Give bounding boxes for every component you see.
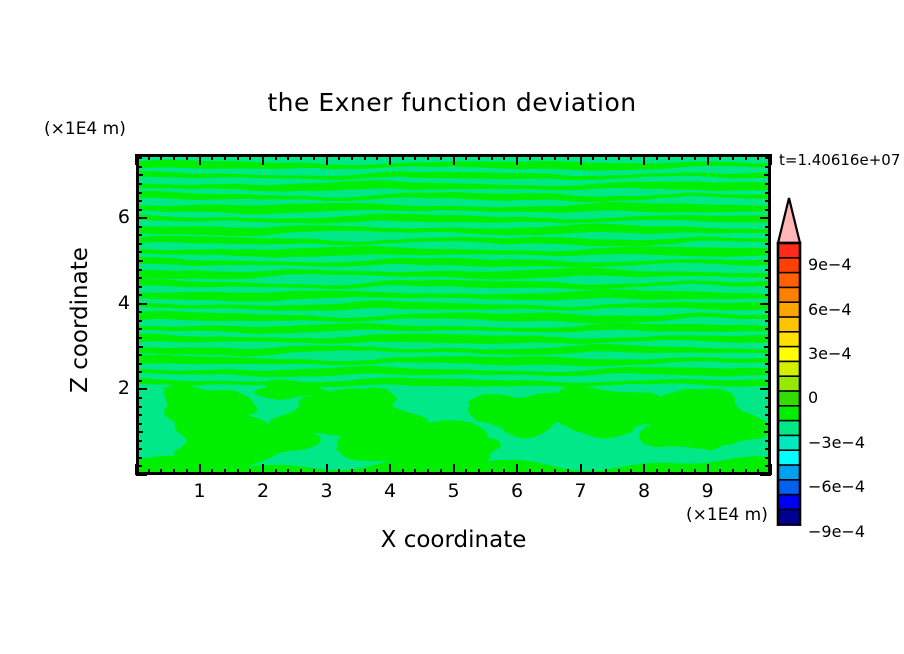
y-major-tick [136,217,147,219]
y-minor-tick [136,320,142,322]
x-minor-tick [541,469,543,475]
x-minor-tick-top [478,154,480,160]
x-minor-tick-top [694,154,696,160]
x-minor-tick-top [668,154,670,160]
y-minor-tick-right [765,192,771,194]
y-minor-tick [136,397,142,399]
x-major-tick-top [516,154,518,165]
y-minor-tick-right [765,465,771,467]
x-minor-tick-top [287,154,289,160]
x-minor-tick-top [160,154,162,160]
y-major-tick [136,388,147,390]
x-minor-tick [681,469,683,475]
contour-field [139,157,768,472]
y-minor-tick [136,328,142,330]
x-tick-label: 1 [185,480,215,502]
x-tick-label: 7 [566,480,596,502]
y-minor-tick-right [765,397,771,399]
x-minor-tick [376,469,378,475]
x-major-tick [643,464,645,475]
x-minor-tick-top [148,154,150,160]
x-minor-tick-top [313,154,315,160]
x-minor-tick [465,469,467,475]
x-minor-tick [732,469,734,475]
plot-area [136,154,771,475]
x-minor-tick [668,469,670,475]
x-major-tick [453,464,455,475]
x-axis-unit-label: (×1E4 m) [686,505,768,525]
y-minor-tick [136,423,142,425]
x-minor-tick [719,469,721,475]
x-major-tick [199,464,201,475]
colorbar-tick-label: 6e−4 [808,300,852,319]
x-tick-label: 6 [502,480,532,502]
y-minor-tick [136,354,142,356]
x-minor-tick [414,469,416,475]
x-minor-tick-top [186,154,188,160]
y-minor-tick-right [765,157,771,159]
colorbar-tick-label: −3e−4 [808,433,865,452]
y-minor-tick [136,277,142,279]
y-minor-tick-right [765,226,771,228]
contour-plot-figure: the Exner function deviation (×1E4 m) 12… [0,0,904,654]
y-minor-tick [136,209,142,211]
y-minor-tick [136,243,142,245]
y-minor-tick [136,192,142,194]
y-minor-tick [136,251,142,253]
y-minor-tick [136,346,143,348]
y-minor-tick-right [765,251,771,253]
x-minor-tick [402,469,404,475]
x-minor-tick-top [237,154,239,160]
y-minor-tick-right [765,371,771,373]
y-minor-tick-right [765,337,771,339]
x-major-tick-top [135,154,137,165]
colorbar-tick-label: 3e−4 [808,344,852,363]
x-minor-tick [427,469,429,475]
x-minor-tick [491,469,493,475]
y-minor-tick-right [765,209,771,211]
y-minor-tick-right [765,320,771,322]
y-minor-tick [136,440,142,442]
x-major-tick [707,464,709,475]
y-minor-tick-right [764,260,771,262]
x-minor-tick-top [173,154,175,160]
y-minor-tick-right [765,277,771,279]
y-major-tick [136,474,147,476]
y-minor-tick-right [765,200,771,202]
y-minor-tick-right [764,174,771,176]
y-minor-tick [136,363,142,365]
y-major-tick-right [760,217,771,219]
x-minor-tick-top [656,154,658,160]
y-minor-tick [136,174,143,176]
x-major-tick-top [580,154,582,165]
x-minor-tick-top [491,154,493,160]
x-minor-tick [757,469,759,475]
y-minor-tick [136,166,142,168]
x-minor-tick [592,469,594,475]
colorbar[interactable]: 9e−46e−43e−40−3e−4−6e−4−9e−4 [772,196,904,526]
x-minor-tick-top [224,154,226,160]
y-minor-tick-right [765,423,771,425]
x-minor-tick-top [567,154,569,160]
y-minor-tick [136,465,142,467]
y-minor-tick-right [765,380,771,382]
x-tick-label: 4 [375,480,405,502]
x-tick-label: 5 [439,480,469,502]
x-minor-tick-top [618,154,620,160]
x-minor-tick-top [414,154,416,160]
x-minor-tick [656,469,658,475]
x-minor-tick [745,469,747,475]
x-minor-tick [300,469,302,475]
y-minor-tick [136,294,142,296]
x-major-tick [326,464,328,475]
x-major-tick-top [199,154,201,165]
x-minor-tick-top [529,154,531,160]
x-minor-tick-top [376,154,378,160]
x-minor-tick [186,469,188,475]
x-major-tick-top [453,154,455,165]
x-minor-tick [630,469,632,475]
x-minor-tick [313,469,315,475]
y-minor-tick-right [765,440,771,442]
y-minor-tick [136,380,142,382]
x-major-tick-top [770,154,772,165]
x-minor-tick-top [554,154,556,160]
x-tick-label: 8 [629,480,659,502]
x-minor-tick-top [338,154,340,160]
x-minor-tick [287,469,289,475]
y-minor-tick [136,457,142,459]
y-minor-tick [136,234,142,236]
x-major-tick-top [643,154,645,165]
x-minor-tick-top [630,154,632,160]
y-minor-tick [136,226,142,228]
y-major-tick-right [760,474,771,476]
x-minor-tick-top [427,154,429,160]
y-axis-unit-label: (×1E4 m) [44,119,126,139]
y-major-tick-right [760,388,771,390]
x-minor-tick-top [440,154,442,160]
x-minor-tick-top [592,154,594,160]
x-minor-tick-top [465,154,467,160]
x-minor-tick [554,469,556,475]
y-minor-tick-right [765,311,771,313]
y-minor-tick-right [765,234,771,236]
colorbar-tick-label: 9e−4 [808,255,852,274]
x-minor-tick-top [681,154,683,160]
y-minor-tick [136,406,142,408]
x-minor-tick [249,469,251,475]
x-major-tick-top [707,154,709,165]
x-minor-tick-top [719,154,721,160]
colorbar-tick-label: 0 [808,388,818,407]
x-minor-tick [351,469,353,475]
x-minor-tick [160,469,162,475]
y-minor-tick [136,414,142,416]
y-minor-tick [136,311,142,313]
x-tick-label: 9 [693,480,723,502]
y-minor-tick [136,286,142,288]
y-axis-title: Z coordinate [67,160,93,480]
x-minor-tick-top [732,154,734,160]
x-minor-tick-top [745,154,747,160]
y-minor-tick [136,448,142,450]
x-major-tick-top [389,154,391,165]
x-major-tick [516,464,518,475]
x-major-tick-top [262,154,264,165]
x-minor-tick-top [300,154,302,160]
time-annotation: t=1.40616e+07 [779,151,900,169]
page-title: the Exner function deviation [0,88,904,117]
x-minor-tick-top [275,154,277,160]
x-minor-tick [364,469,366,475]
y-minor-tick-right [765,294,771,296]
x-minor-tick [529,469,531,475]
x-minor-tick [275,469,277,475]
x-major-tick [262,464,264,475]
y-minor-tick-right [764,431,771,433]
x-minor-tick [618,469,620,475]
x-major-tick-top [326,154,328,165]
x-minor-tick-top [605,154,607,160]
y-minor-tick [136,183,142,185]
x-major-tick [580,464,582,475]
x-major-tick [389,464,391,475]
y-minor-tick [136,260,143,262]
x-minor-tick-top [541,154,543,160]
y-minor-tick-right [765,269,771,271]
y-minor-tick-right [765,183,771,185]
y-minor-tick [136,269,142,271]
y-minor-tick-right [765,243,771,245]
colorbar-tick-label: −9e−4 [808,522,865,541]
y-tick-label: 2 [104,377,130,399]
y-tick-label: 6 [104,206,130,228]
x-minor-tick [478,469,480,475]
y-minor-tick-right [765,166,771,168]
x-minor-tick [503,469,505,475]
y-minor-tick-right [764,346,771,348]
y-minor-tick-right [765,354,771,356]
x-minor-tick-top [402,154,404,160]
x-minor-tick-top [364,154,366,160]
y-major-tick-right [760,303,771,305]
y-minor-tick [136,157,142,159]
x-tick-label: 3 [312,480,342,502]
y-minor-tick [136,371,142,373]
x-minor-tick [567,469,569,475]
x-minor-tick [224,469,226,475]
x-minor-tick [605,469,607,475]
x-minor-tick [338,469,340,475]
x-axis-title: X coordinate [136,527,771,553]
y-minor-tick [136,431,143,433]
x-minor-tick [211,469,213,475]
y-minor-tick-right [765,363,771,365]
x-minor-tick-top [351,154,353,160]
x-tick-label: 2 [248,480,278,502]
y-minor-tick-right [765,457,771,459]
x-minor-tick-top [757,154,759,160]
x-minor-tick-top [503,154,505,160]
x-minor-tick-top [211,154,213,160]
y-tick-label: 4 [104,292,130,314]
y-minor-tick-right [765,406,771,408]
y-minor-tick [136,200,142,202]
y-minor-tick-right [765,414,771,416]
x-minor-tick [148,469,150,475]
x-minor-tick [237,469,239,475]
colorbar-tick-label: −6e−4 [808,477,865,496]
y-minor-tick-right [765,448,771,450]
y-major-tick [136,303,147,305]
y-minor-tick [136,337,142,339]
x-minor-tick [440,469,442,475]
y-minor-tick-right [765,328,771,330]
x-minor-tick-top [249,154,251,160]
x-minor-tick [173,469,175,475]
y-minor-tick-right [765,286,771,288]
x-minor-tick [694,469,696,475]
